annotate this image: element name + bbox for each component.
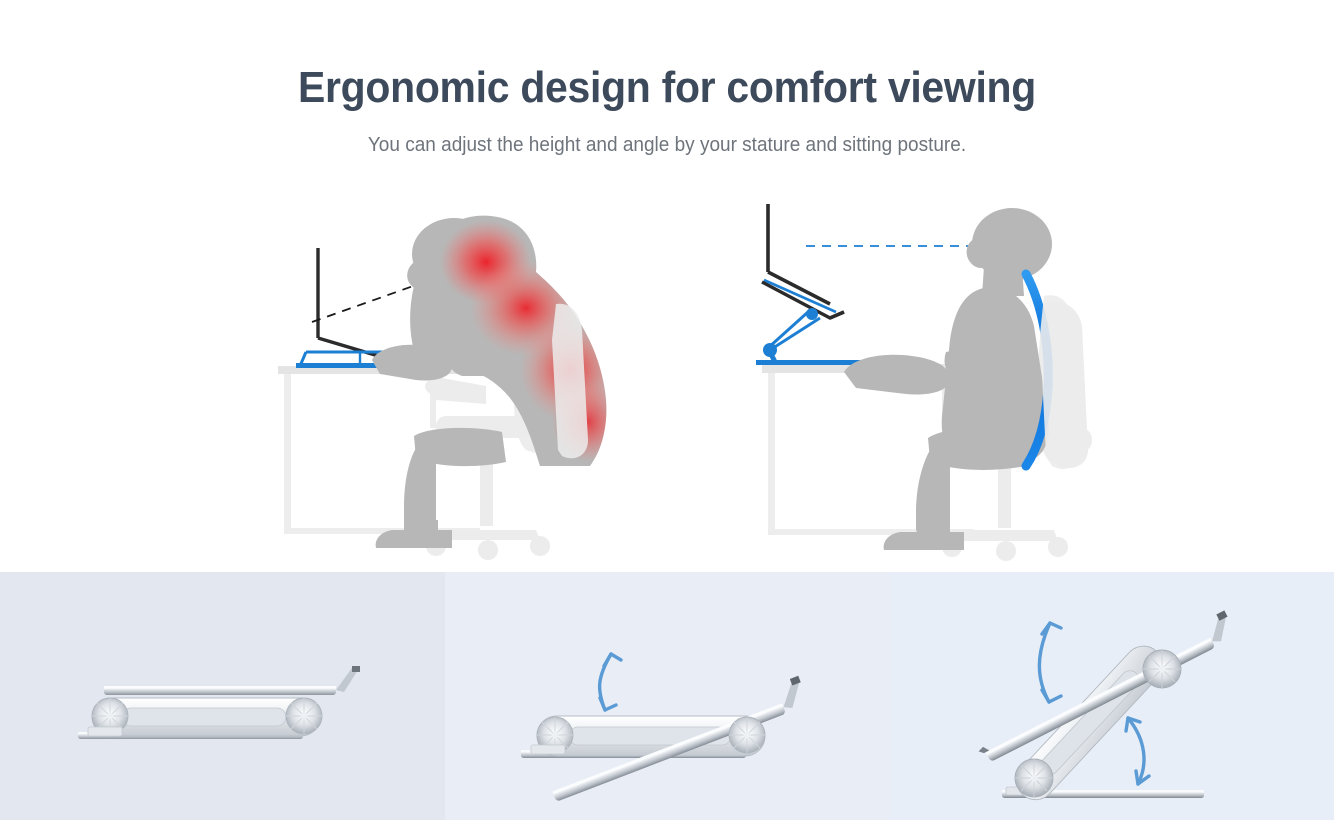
page-title: Ergonomic design for comfort viewing (47, 0, 1288, 114)
product-photo-band (0, 572, 1334, 820)
hinge-top (1143, 650, 1181, 688)
figure-hunched (372, 216, 624, 548)
hinge-bottom (1015, 759, 1053, 797)
laptop-on-raised-stand (756, 204, 872, 365)
chair-backrest-front (552, 304, 588, 459)
figure-upright (844, 208, 1052, 550)
product-feature-page: Ergonomic design for comfort viewing You… (0, 0, 1334, 820)
leg-angle-arrow-icon (1126, 718, 1149, 784)
product-photo-stand-max (890, 572, 1334, 820)
base-foot (88, 727, 122, 736)
stand-top-plate (104, 666, 360, 695)
hinge-right (286, 698, 322, 734)
product-photo-stand-folded (0, 572, 445, 820)
posture-illustration-band (0, 200, 1334, 572)
header: Ergonomic design for comfort viewing You… (0, 0, 1334, 200)
product-photo-stand-medium (445, 572, 890, 820)
tilt-arrow-icon (600, 654, 621, 710)
base-foot (531, 745, 565, 754)
top-tilt-arrow-icon (1039, 623, 1061, 702)
page-subtitle: You can adjust the height and angle by y… (33, 114, 1300, 158)
hinge-right (729, 717, 765, 753)
illustration-good-posture (740, 200, 1330, 572)
